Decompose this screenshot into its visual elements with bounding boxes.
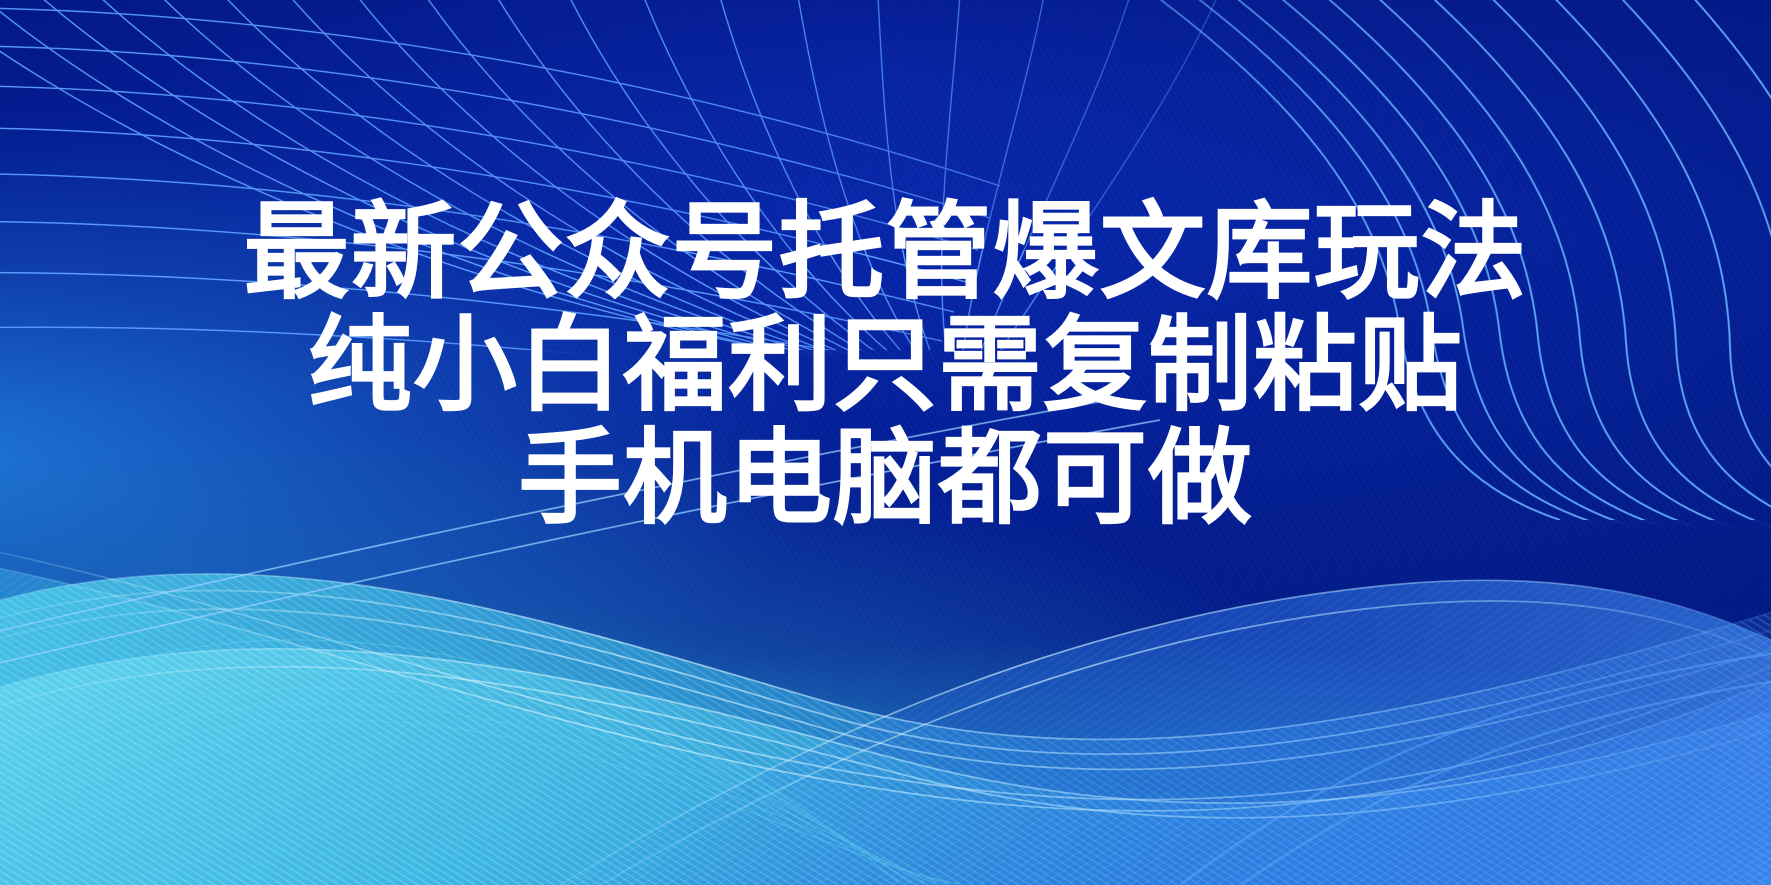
headline-line-1: 最新公众号托管爆文库玩法 xyxy=(0,196,1771,309)
headline-block: 最新公众号托管爆文库玩法 纯小白福利只需复制粘贴 手机电脑都可做 xyxy=(0,196,1771,535)
headline-line-3: 手机电脑都可做 xyxy=(0,422,1771,535)
course-cover-banner: 最新公众号托管爆文库玩法 纯小白福利只需复制粘贴 手机电脑都可做 xyxy=(0,0,1771,885)
headline-line-2: 纯小白福利只需复制粘贴 xyxy=(0,309,1771,422)
